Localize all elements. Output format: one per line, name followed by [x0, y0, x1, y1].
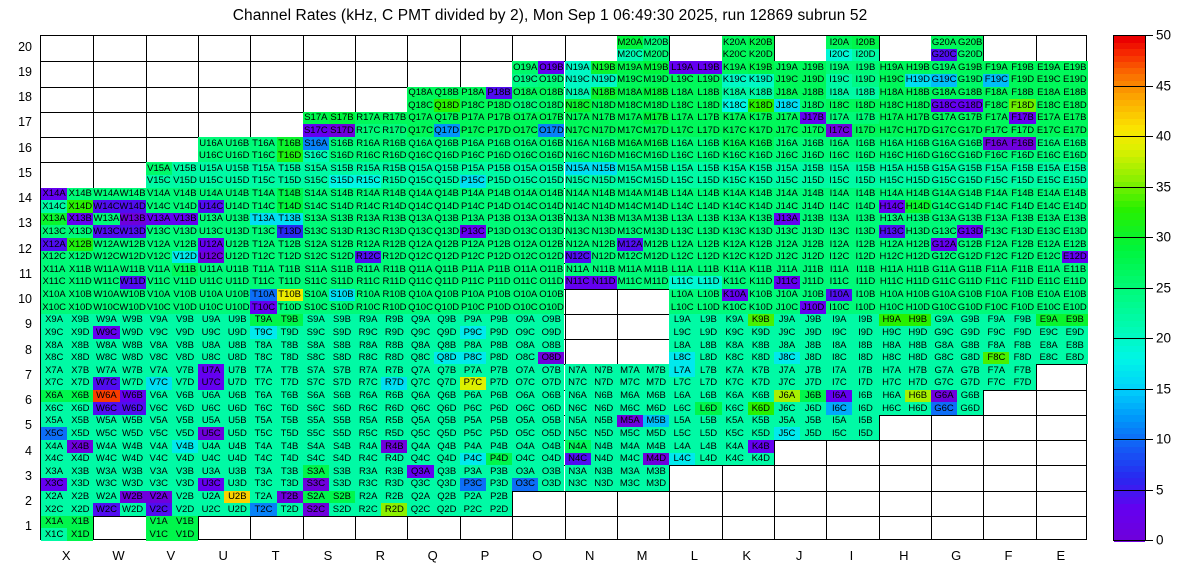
pmt-channel-r12d[interactable]: R12D — [381, 251, 407, 264]
pmt-channel-l11a[interactable]: L11A — [669, 263, 695, 276]
pmt-channel-u5c[interactable]: U5C — [198, 427, 224, 440]
pmt-channel-l12b[interactable]: L12B — [695, 238, 721, 251]
pmt-channel-i7b[interactable]: I7B — [852, 364, 878, 377]
pmt-channel-s3a[interactable]: S3A — [303, 465, 329, 478]
pmt-channel-l19a[interactable]: L19A — [669, 61, 695, 74]
pmt-cell[interactable]: X7AX7BX7CX7D — [41, 364, 93, 389]
pmt-channel-w2a[interactable]: W2A — [93, 491, 119, 504]
pmt-cell[interactable]: L9AL9BL9CL9D — [669, 314, 721, 339]
pmt-channel-j13b[interactable]: J13B — [800, 213, 826, 226]
pmt-channel-h10d[interactable]: H10D — [905, 301, 931, 314]
pmt-channel-v15a[interactable]: V15A — [146, 162, 172, 175]
pmt-cell[interactable]: X2AX2BX2CX2D — [41, 491, 93, 516]
pmt-cell[interactable]: R3AR3BR3CR3D — [355, 465, 407, 490]
pmt-channel-e15a[interactable]: E15A — [1036, 162, 1062, 175]
pmt-channel-r10b[interactable]: R10B — [381, 289, 407, 302]
pmt-channel-j12a[interactable]: J12A — [774, 238, 800, 251]
pmt-cell[interactable]: F12AF12BF12CF12D — [983, 238, 1035, 263]
pmt-channel-p6d[interactable]: P6D — [486, 402, 512, 415]
pmt-channel-g6a[interactable]: G6A — [931, 390, 957, 403]
pmt-cell[interactable]: J8AJ8BJ8CJ8D — [774, 339, 826, 364]
pmt-channel-q18a[interactable]: Q18A — [407, 87, 433, 100]
pmt-channel-w14c[interactable]: W14C — [93, 200, 119, 213]
pmt-channel-s15d[interactable]: S15D — [329, 175, 355, 188]
pmt-channel-o19a[interactable]: O19A — [512, 61, 538, 74]
pmt-channel-m6c[interactable]: M6C — [617, 402, 643, 415]
pmt-cell[interactable]: U10AU10BU10CU10D — [198, 289, 250, 314]
pmt-channel-n5b[interactable]: N5B — [591, 415, 617, 428]
pmt-cell[interactable]: I6AI6BI6CI6D — [826, 390, 878, 415]
pmt-channel-p12b[interactable]: P12B — [486, 238, 512, 251]
pmt-channel-k14a[interactable]: K14A — [722, 188, 748, 201]
pmt-channel-q10c[interactable]: Q10C — [407, 301, 433, 314]
pmt-channel-r9c[interactable]: R9C — [355, 326, 381, 339]
pmt-cell[interactable]: E14AE14BE14CE14D — [1036, 188, 1088, 213]
pmt-channel-s12d[interactable]: S12D — [329, 251, 355, 264]
pmt-cell[interactable]: U14AU14BU14CU14D — [198, 188, 250, 213]
pmt-channel-s11a[interactable]: S11A — [303, 263, 329, 276]
pmt-channel-p4d[interactable]: P4D — [486, 453, 512, 466]
pmt-channel-e10a[interactable]: E10A — [1036, 289, 1062, 302]
pmt-channel-u15a[interactable]: U15A — [198, 162, 224, 175]
pmt-cell[interactable]: M12AM12BM12CM12D — [617, 238, 669, 263]
pmt-channel-s16b[interactable]: S16B — [329, 137, 355, 150]
pmt-channel-s3b[interactable]: S3B — [329, 465, 355, 478]
pmt-channel-l15b[interactable]: L15B — [695, 162, 721, 175]
pmt-channel-e13d[interactable]: E13D — [1062, 225, 1088, 238]
pmt-channel-v10c[interactable]: V10C — [146, 301, 172, 314]
pmt-cell[interactable]: H16AH16BH16CH16D — [879, 137, 931, 162]
pmt-channel-v7d[interactable]: V7D — [172, 377, 198, 390]
pmt-channel-p6a[interactable]: P6A — [460, 390, 486, 403]
pmt-channel-u6d[interactable]: U6D — [224, 402, 250, 415]
pmt-cell[interactable]: N11AN11BN11CN11D — [565, 263, 617, 288]
pmt-channel-k7d[interactable]: K7D — [748, 377, 774, 390]
pmt-cell[interactable]: H17AH17BH17CH17D — [879, 112, 931, 137]
pmt-channel-q9b[interactable]: Q9B — [434, 314, 460, 327]
pmt-channel-p7a[interactable]: P7A — [460, 364, 486, 377]
pmt-channel-t3a[interactable]: T3A — [250, 465, 276, 478]
pmt-cell[interactable]: K8AK8BK8CK8D — [722, 339, 774, 364]
pmt-channel-t7c[interactable]: T7C — [250, 377, 276, 390]
pmt-channel-n15a[interactable]: N15A — [565, 162, 591, 175]
pmt-cell[interactable]: M14AM14BM14CM14D — [617, 188, 669, 213]
pmt-channel-l15c[interactable]: L15C — [669, 175, 695, 188]
pmt-channel-j10d[interactable]: J10D — [800, 301, 826, 314]
pmt-channel-l10c[interactable]: L10C — [669, 301, 695, 314]
pmt-channel-j11c[interactable]: J11C — [774, 276, 800, 289]
pmt-channel-q15d[interactable]: Q15D — [434, 175, 460, 188]
pmt-channel-v14a[interactable]: V14A — [146, 188, 172, 201]
pmt-cell[interactable]: G8AG8BG8CG8D — [931, 339, 983, 364]
pmt-channel-h19d[interactable]: H19D — [905, 74, 931, 87]
pmt-channel-t3b[interactable]: T3B — [277, 465, 303, 478]
pmt-channel-h6c[interactable]: H6C — [879, 402, 905, 415]
pmt-channel-l17a[interactable]: L17A — [669, 112, 695, 125]
pmt-channel-e15d[interactable]: E15D — [1062, 175, 1088, 188]
pmt-channel-s13c[interactable]: S13C — [303, 225, 329, 238]
pmt-cell[interactable]: T2AT2BT2CT2D — [250, 491, 302, 516]
pmt-channel-l16d[interactable]: L16D — [695, 150, 721, 163]
pmt-cell[interactable]: I15AI15BI15CI15D — [826, 162, 878, 187]
pmt-channel-e12c[interactable]: E12C — [1036, 251, 1062, 264]
pmt-channel-k8c[interactable]: K8C — [722, 352, 748, 365]
pmt-channel-r5c[interactable]: R5C — [355, 427, 381, 440]
pmt-channel-v1b[interactable]: V1B — [172, 516, 198, 529]
pmt-channel-t8d[interactable]: T8D — [277, 352, 303, 365]
pmt-channel-r15b[interactable]: R15B — [381, 162, 407, 175]
pmt-cell[interactable]: E19AE19BE19CE19D — [1036, 61, 1088, 86]
pmt-channel-r13b[interactable]: R13B — [381, 213, 407, 226]
pmt-channel-j15a[interactable]: J15A — [774, 162, 800, 175]
pmt-channel-m19b[interactable]: M19B — [643, 61, 669, 74]
pmt-channel-q4b[interactable]: Q4B — [434, 440, 460, 453]
pmt-channel-w8b[interactable]: W8B — [120, 339, 146, 352]
pmt-cell[interactable]: J13AJ13BJ13CJ13D — [774, 213, 826, 238]
pmt-channel-h14c[interactable]: H14C — [879, 200, 905, 213]
pmt-channel-m17a[interactable]: M17A — [617, 112, 643, 125]
pmt-channel-q3d[interactable]: Q3D — [434, 478, 460, 491]
pmt-cell[interactable]: L17AL17BL17CL17D — [669, 112, 721, 137]
pmt-channel-o16a[interactable]: O16A — [512, 137, 538, 150]
pmt-channel-i7a[interactable]: I7A — [826, 364, 852, 377]
pmt-cell[interactable]: L5AL5BL5CL5D — [669, 415, 721, 440]
pmt-channel-k17c[interactable]: K17C — [722, 124, 748, 137]
pmt-channel-l6d[interactable]: L6D — [695, 402, 721, 415]
pmt-cell[interactable]: O12AO12BO12CO12D — [512, 238, 564, 263]
pmt-channel-k20c[interactable]: K20C — [722, 49, 748, 62]
pmt-channel-j13d[interactable]: J13D — [800, 225, 826, 238]
pmt-channel-n18a[interactable]: N18A — [565, 87, 591, 100]
pmt-cell[interactable]: I7AI7BI7CI7D — [826, 364, 878, 389]
pmt-channel-s5a[interactable]: S5A — [303, 415, 329, 428]
pmt-cell[interactable]: K17AK17BK17CK17D — [722, 112, 774, 137]
pmt-channel-r6c[interactable]: R6C — [355, 402, 381, 415]
pmt-channel-j10a[interactable]: J10A — [774, 289, 800, 302]
pmt-channel-k19b[interactable]: K19B — [748, 61, 774, 74]
pmt-channel-p13d[interactable]: P13D — [486, 225, 512, 238]
pmt-cell[interactable]: S12AS12BS12CS12D — [303, 238, 355, 263]
pmt-channel-u16c[interactable]: U16C — [198, 150, 224, 163]
pmt-cell[interactable]: L18AL18BL18CL18D — [669, 87, 721, 112]
pmt-channel-j15b[interactable]: J15B — [800, 162, 826, 175]
pmt-channel-u4c[interactable]: U4C — [198, 453, 224, 466]
pmt-channel-l6b[interactable]: L6B — [695, 390, 721, 403]
pmt-channel-t9b[interactable]: T9B — [277, 314, 303, 327]
pmt-channel-g9d[interactable]: G9D — [957, 326, 983, 339]
pmt-channel-v5d[interactable]: V5D — [172, 427, 198, 440]
pmt-cell[interactable]: J16AJ16BJ16CJ16D — [774, 137, 826, 162]
pmt-channel-l12c[interactable]: L12C — [669, 251, 695, 264]
pmt-cell[interactable]: K7AK7BK7CK7D — [722, 364, 774, 389]
pmt-channel-f8a[interactable]: F8A — [983, 339, 1009, 352]
pmt-channel-g17d[interactable]: G17D — [957, 124, 983, 137]
pmt-cell[interactable]: F8AF8BF8CF8D — [983, 339, 1035, 364]
pmt-channel-g18c[interactable]: G18C — [931, 99, 957, 112]
pmt-cell[interactable]: V2AV2BV2CV2D — [146, 491, 198, 516]
pmt-channel-m7b[interactable]: M7B — [643, 364, 669, 377]
pmt-channel-m12a[interactable]: M12A — [617, 238, 643, 251]
pmt-channel-l7d[interactable]: L7D — [695, 377, 721, 390]
pmt-channel-j17b[interactable]: J17B — [800, 112, 826, 125]
pmt-channel-p15a[interactable]: P15A — [460, 162, 486, 175]
pmt-channel-k17b[interactable]: K17B — [748, 112, 774, 125]
pmt-channel-q5a[interactable]: Q5A — [407, 415, 433, 428]
pmt-channel-s2c[interactable]: S2C — [303, 503, 329, 516]
pmt-channel-n19b[interactable]: N19B — [591, 61, 617, 74]
pmt-cell[interactable]: L10AL10BL10CL10D — [669, 289, 721, 314]
pmt-channel-l7b[interactable]: L7B — [695, 364, 721, 377]
pmt-channel-s7a[interactable]: S7A — [303, 364, 329, 377]
pmt-cell[interactable]: Q12AQ12BQ12CQ12D — [407, 238, 459, 263]
pmt-channel-v11a[interactable]: V11A — [146, 263, 172, 276]
pmt-channel-k15d[interactable]: K15D — [748, 175, 774, 188]
pmt-channel-h8b[interactable]: H8B — [905, 339, 931, 352]
pmt-channel-n17a[interactable]: N17A — [565, 112, 591, 125]
pmt-channel-f13a[interactable]: F13A — [983, 213, 1009, 226]
pmt-channel-o12a[interactable]: O12A — [512, 238, 538, 251]
pmt-channel-t14a[interactable]: T14A — [250, 188, 276, 201]
pmt-cell[interactable]: R15AR15BR15CR15D — [355, 162, 407, 187]
pmt-channel-r16b[interactable]: R16B — [381, 137, 407, 150]
pmt-cell[interactable]: M7AM7BM7CM7D — [617, 364, 669, 389]
pmt-channel-o12b[interactable]: O12B — [538, 238, 564, 251]
pmt-channel-f13c[interactable]: F13C — [983, 225, 1009, 238]
pmt-channel-h16d[interactable]: H16D — [905, 150, 931, 163]
pmt-channel-p9a[interactable]: P9A — [460, 314, 486, 327]
pmt-channel-u6b[interactable]: U6B — [224, 390, 250, 403]
pmt-channel-o15b[interactable]: O15B — [538, 162, 564, 175]
pmt-channel-f15b[interactable]: F15B — [1009, 162, 1035, 175]
pmt-channel-j9a[interactable]: J9A — [774, 314, 800, 327]
pmt-channel-x12b[interactable]: X12B — [67, 238, 93, 251]
pmt-channel-n6c[interactable]: N6C — [565, 402, 591, 415]
pmt-channel-h13d[interactable]: H13D — [905, 225, 931, 238]
pmt-channel-r9d[interactable]: R9D — [381, 326, 407, 339]
pmt-channel-o7a[interactable]: O7A — [512, 364, 538, 377]
pmt-channel-j11a[interactable]: J11A — [774, 263, 800, 276]
pmt-channel-o19b[interactable]: O19B — [538, 61, 564, 74]
pmt-channel-g13d[interactable]: G13D — [957, 225, 983, 238]
pmt-channel-l5a[interactable]: L5A — [669, 415, 695, 428]
pmt-channel-v10a[interactable]: V10A — [146, 289, 172, 302]
pmt-channel-p11a[interactable]: P11A — [460, 263, 486, 276]
pmt-channel-n18d[interactable]: N18D — [591, 99, 617, 112]
pmt-cell[interactable]: R13AR13BR13CR13D — [355, 213, 407, 238]
pmt-channel-r13c[interactable]: R13C — [355, 225, 381, 238]
pmt-channel-k9b[interactable]: K9B — [748, 314, 774, 327]
pmt-cell[interactable]: Q16AQ16BQ16CQ16D — [407, 137, 459, 162]
pmt-channel-m18d[interactable]: M18D — [643, 99, 669, 112]
pmt-channel-q2a[interactable]: Q2A — [407, 491, 433, 504]
pmt-cell[interactable]: O8AO8BO8CO8D — [512, 339, 564, 364]
pmt-channel-v5c[interactable]: V5C — [146, 427, 172, 440]
pmt-channel-w7b[interactable]: W7B — [120, 364, 146, 377]
pmt-channel-k18d[interactable]: K18D — [748, 99, 774, 112]
pmt-channel-p10d[interactable]: P10D — [486, 301, 512, 314]
pmt-channel-v6c[interactable]: V6C — [146, 402, 172, 415]
pmt-channel-g18b[interactable]: G18B — [957, 87, 983, 100]
pmt-channel-h7d[interactable]: H7D — [905, 377, 931, 390]
pmt-channel-i16d[interactable]: I16D — [852, 150, 878, 163]
pmt-channel-p16a[interactable]: P16A — [460, 137, 486, 150]
pmt-cell[interactable]: N4AN4BN4CN4D — [565, 440, 617, 465]
pmt-cell[interactable]: P17AP17BP17CP17D — [460, 112, 512, 137]
pmt-cell[interactable]: U7AU7BU7CU7D — [198, 364, 250, 389]
pmt-channel-k11a[interactable]: K11A — [722, 263, 748, 276]
pmt-channel-s8c[interactable]: S8C — [303, 352, 329, 365]
pmt-channel-x1b[interactable]: X1B — [67, 516, 93, 529]
pmt-cell[interactable]: Q13AQ13BQ13CQ13D — [407, 213, 459, 238]
pmt-channel-k10d[interactable]: K10D — [748, 301, 774, 314]
pmt-channel-j7d[interactable]: J7D — [800, 377, 826, 390]
pmt-cell[interactable]: J11AJ11BJ11CJ11D — [774, 263, 826, 288]
pmt-cell[interactable]: J6AJ6BJ6CJ6D — [774, 390, 826, 415]
pmt-cell[interactable]: H8AH8BH8CH8D — [879, 339, 931, 364]
pmt-channel-g6d[interactable]: G6D — [957, 402, 983, 415]
pmt-channel-n17d[interactable]: N17D — [591, 124, 617, 137]
pmt-cell[interactable]: K16AK16BK16CK16D — [722, 137, 774, 162]
pmt-channel-h19c[interactable]: H19C — [879, 74, 905, 87]
pmt-channel-i18a[interactable]: I18A — [826, 87, 852, 100]
pmt-cell[interactable]: K15AK15BK15CK15D — [722, 162, 774, 187]
pmt-channel-v14b[interactable]: V14B — [172, 188, 198, 201]
pmt-channel-x13d[interactable]: X13D — [67, 225, 93, 238]
pmt-cell[interactable]: K5AK5BK5CK5D — [722, 415, 774, 440]
pmt-channel-e16c[interactable]: E16C — [1036, 150, 1062, 163]
pmt-channel-n14a[interactable]: N14A — [565, 188, 591, 201]
pmt-channel-q14a[interactable]: Q14A — [407, 188, 433, 201]
pmt-channel-t16c[interactable]: T16C — [250, 150, 276, 163]
pmt-channel-v14d[interactable]: V14D — [172, 200, 198, 213]
pmt-channel-u15d[interactable]: U15D — [224, 175, 250, 188]
pmt-cell[interactable]: Q2AQ2BQ2CQ2D — [407, 491, 459, 516]
pmt-channel-n18c[interactable]: N18C — [565, 99, 591, 112]
pmt-cell[interactable]: Q18AQ18BQ18CQ18D — [407, 87, 459, 112]
pmt-cell[interactable]: G11AG11BG11CG11D — [931, 263, 983, 288]
pmt-channel-i13a[interactable]: I13A — [826, 213, 852, 226]
pmt-channel-s9a[interactable]: S9A — [303, 314, 329, 327]
pmt-cell[interactable]: Q3AQ3BQ3CQ3D — [407, 465, 459, 490]
pmt-channel-v7c[interactable]: V7C — [146, 377, 172, 390]
pmt-channel-h8a[interactable]: H8A — [879, 339, 905, 352]
pmt-channel-u14b[interactable]: U14B — [224, 188, 250, 201]
pmt-channel-l4d[interactable]: L4D — [695, 453, 721, 466]
pmt-channel-f15d[interactable]: F15D — [1009, 175, 1035, 188]
pmt-channel-v12c[interactable]: V12C — [146, 251, 172, 264]
pmt-cell[interactable]: U5AU5BU5CU5D — [198, 415, 250, 440]
pmt-channel-r5a[interactable]: R5A — [355, 415, 381, 428]
pmt-cell[interactable]: T3AT3BT3CT3D — [250, 465, 302, 490]
pmt-channel-t11c[interactable]: T11C — [250, 276, 276, 289]
pmt-channel-q2d[interactable]: Q2D — [434, 503, 460, 516]
pmt-channel-g17a[interactable]: G17A — [931, 112, 957, 125]
pmt-channel-k11c[interactable]: K11C — [722, 276, 748, 289]
pmt-channel-w8d[interactable]: W8D — [120, 352, 146, 365]
pmt-channel-v4b[interactable]: V4B — [172, 440, 198, 453]
pmt-channel-f9c[interactable]: F9C — [983, 326, 1009, 339]
pmt-channel-e11a[interactable]: E11A — [1036, 263, 1062, 276]
pmt-channel-t7b[interactable]: T7B — [277, 364, 303, 377]
pmt-cell[interactable]: O13AO13BO13CO13D — [512, 213, 564, 238]
pmt-channel-r7c[interactable]: R7C — [355, 377, 381, 390]
pmt-channel-h8c[interactable]: H8C — [879, 352, 905, 365]
pmt-channel-g6b[interactable]: G6B — [957, 390, 983, 403]
pmt-cell[interactable]: U12AU12BU12CU12D — [198, 238, 250, 263]
pmt-channel-n4d[interactable]: N4D — [591, 453, 617, 466]
pmt-channel-i15a[interactable]: I15A — [826, 162, 852, 175]
pmt-cell[interactable]: R14AR14BR14CR14D — [355, 188, 407, 213]
pmt-channel-n16c[interactable]: N16C — [565, 150, 591, 163]
pmt-channel-u12d[interactable]: U12D — [224, 251, 250, 264]
pmt-channel-r7a[interactable]: R7A — [355, 364, 381, 377]
pmt-channel-t12d[interactable]: T12D — [277, 251, 303, 264]
pmt-channel-q12d[interactable]: Q12D — [434, 251, 460, 264]
pmt-channel-e13b[interactable]: E13B — [1062, 213, 1088, 226]
pmt-channel-v5b[interactable]: V5B — [172, 415, 198, 428]
pmt-channel-s15b[interactable]: S15B — [329, 162, 355, 175]
pmt-cell[interactable]: Q5AQ5BQ5CQ5D — [407, 415, 459, 440]
pmt-cell[interactable]: R16AR16BR16CR16D — [355, 137, 407, 162]
pmt-channel-i18c[interactable]: I18C — [826, 99, 852, 112]
pmt-channel-k14c[interactable]: K14C — [722, 200, 748, 213]
pmt-cell[interactable]: V12AV12BV12CV12D — [146, 238, 198, 263]
pmt-channel-w11d[interactable]: W11D — [120, 276, 146, 289]
pmt-channel-l14c[interactable]: L14C — [669, 200, 695, 213]
pmt-cell[interactable]: G6AG6BG6CG6D — [931, 390, 983, 415]
pmt-channel-w10b[interactable]: W10B — [120, 289, 146, 302]
pmt-channel-r4b[interactable]: R4B — [381, 440, 407, 453]
pmt-channel-g6c[interactable]: G6C — [931, 402, 957, 415]
pmt-channel-o10b[interactable]: O10B — [538, 289, 564, 302]
pmt-cell[interactable]: M6AM6BM6CM6D — [617, 390, 669, 415]
pmt-channel-s11c[interactable]: S11C — [303, 276, 329, 289]
pmt-cell[interactable]: Q4AQ4BQ4CQ4D — [407, 440, 459, 465]
pmt-channel-u9c[interactable]: U9C — [198, 326, 224, 339]
pmt-channel-e8b[interactable]: E8B — [1062, 339, 1088, 352]
pmt-channel-h9a[interactable]: H9A — [879, 314, 905, 327]
pmt-channel-p13b[interactable]: P13B — [486, 213, 512, 226]
pmt-channel-f11a[interactable]: F11A — [983, 263, 1009, 276]
pmt-channel-u2b[interactable]: U2B — [224, 491, 250, 504]
pmt-channel-v2a[interactable]: V2A — [146, 491, 172, 504]
pmt-channel-k6d[interactable]: K6D — [748, 402, 774, 415]
pmt-channel-u3d[interactable]: U3D — [224, 478, 250, 491]
pmt-channel-u3a[interactable]: U3A — [198, 465, 224, 478]
pmt-cell[interactable]: Q7AQ7BQ7CQ7D — [407, 364, 459, 389]
pmt-channel-h19a[interactable]: H19A — [879, 61, 905, 74]
pmt-channel-w3b[interactable]: W3B — [120, 465, 146, 478]
pmt-channel-i7c[interactable]: I7C — [826, 377, 852, 390]
pmt-channel-k14d[interactable]: K14D — [748, 200, 774, 213]
pmt-channel-w12d[interactable]: W12D — [120, 251, 146, 264]
pmt-channel-x13b[interactable]: X13B — [67, 213, 93, 226]
pmt-channel-g17b[interactable]: G17B — [957, 112, 983, 125]
pmt-cell[interactable]: K4AK4BK4CK4D — [722, 440, 774, 465]
pmt-channel-o3c[interactable]: O3C — [512, 478, 538, 491]
channel-rate-heatmap[interactable]: M20AM20BM20CM20DK20AK20BK20CK20DI20AI20B… — [40, 35, 1087, 540]
pmt-channel-k20a[interactable]: K20A — [722, 36, 748, 49]
pmt-cell[interactable]: M5AM5BM5CM5D — [617, 415, 669, 440]
pmt-channel-v13b[interactable]: V13B — [172, 213, 198, 226]
pmt-channel-e16b[interactable]: E16B — [1062, 137, 1088, 150]
pmt-channel-o13b[interactable]: O13B — [538, 213, 564, 226]
pmt-channel-r15d[interactable]: R15D — [381, 175, 407, 188]
pmt-cell[interactable]: F19AF19BF19CF19D — [983, 61, 1035, 86]
pmt-channel-x6c[interactable]: X6C — [41, 402, 67, 415]
pmt-channel-g9b[interactable]: G9B — [957, 314, 983, 327]
pmt-channel-v1a[interactable]: V1A — [146, 516, 172, 529]
